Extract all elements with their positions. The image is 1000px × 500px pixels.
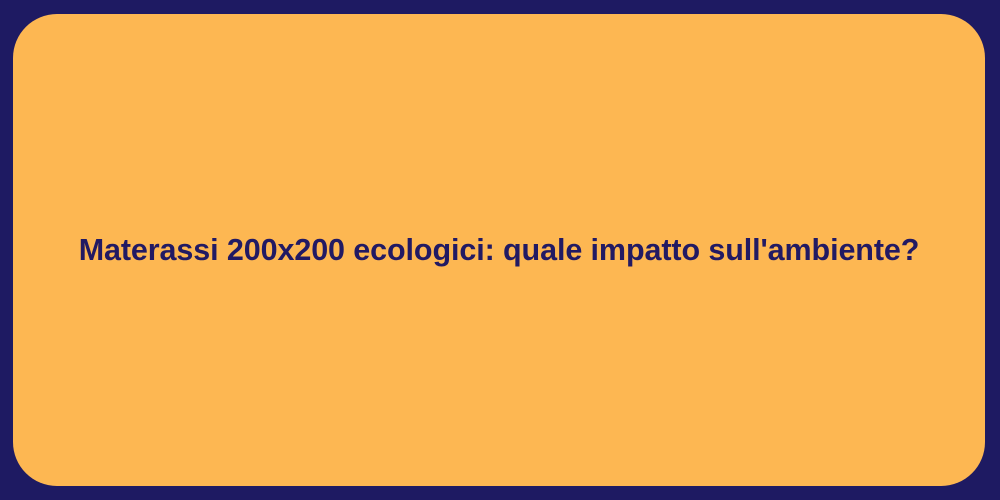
banner-panel: Materassi 200x200 ecologici: quale impat…: [13, 14, 985, 486]
banner-headline: Materassi 200x200 ecologici: quale impat…: [13, 231, 985, 269]
banner-root: Materassi 200x200 ecologici: quale impat…: [0, 0, 1000, 500]
